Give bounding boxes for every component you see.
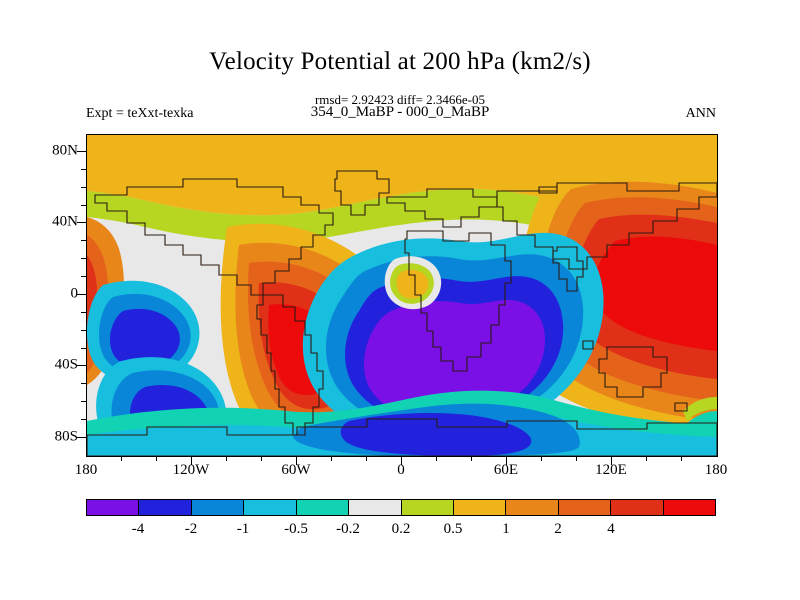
- ytick-minor: [81, 276, 86, 277]
- colorbar-band-10: [611, 500, 663, 515]
- page-title: Velocity Potential at 200 hPa (km2/s): [0, 48, 800, 76]
- contour-field: [87, 135, 717, 456]
- xtick-minor: [121, 456, 122, 461]
- xtick-minor: [226, 456, 227, 461]
- xtick-minor: [436, 456, 437, 461]
- ytick-minor: [81, 348, 86, 349]
- ytick-minor: [81, 383, 86, 384]
- xtick-minor: [576, 456, 577, 461]
- colorbar-label-7: 1: [502, 521, 510, 538]
- xtick-minor: [681, 456, 682, 461]
- ytick-label-40n: 40N: [32, 214, 78, 231]
- colorbar-label-6: 0.5: [444, 521, 463, 538]
- colorbar-band-4: [297, 500, 349, 515]
- xtick-label-180e: 180: [705, 462, 728, 479]
- season-label: ANN: [686, 106, 716, 122]
- xtick-minor: [156, 456, 157, 461]
- colorbar-band-2: [192, 500, 244, 515]
- colorbar-band-5: [349, 500, 401, 515]
- ytick-minor: [81, 258, 86, 259]
- colorbar-label-5: 0.2: [392, 521, 411, 538]
- ytick-major: [77, 294, 86, 295]
- ytick-minor: [81, 419, 86, 420]
- ytick-major: [77, 151, 86, 152]
- ytick-label-0: 0: [32, 286, 78, 303]
- colorbar: [86, 499, 716, 516]
- colorbar-band-0: [87, 500, 139, 515]
- map-plot-area: [86, 134, 718, 457]
- colorbar-band-9: [559, 500, 611, 515]
- colorbar-label-2: -1: [237, 521, 250, 538]
- xtick-major: [296, 456, 297, 465]
- ytick-label-80n: 80N: [32, 143, 78, 160]
- colorbar-label-0: -4: [132, 521, 145, 538]
- ytick-minor: [81, 187, 86, 188]
- colorbar-band-6: [402, 500, 454, 515]
- xtick-minor: [261, 456, 262, 461]
- xtick-minor: [646, 456, 647, 461]
- xtick-minor: [471, 456, 472, 461]
- ytick-minor: [81, 312, 86, 313]
- colorbar-band-8: [506, 500, 558, 515]
- ytick-minor: [81, 401, 86, 402]
- xtick-minor: [331, 456, 332, 461]
- ytick-minor: [81, 240, 86, 241]
- colorbar-label-1: -2: [185, 521, 198, 538]
- figure-canvas: Velocity Potential at 200 hPa (km2/s) rm…: [0, 0, 800, 600]
- colorbar-label-8: 2: [554, 521, 562, 538]
- ytick-major: [77, 365, 86, 366]
- ytick-minor: [81, 205, 86, 206]
- xtick-minor: [366, 456, 367, 461]
- ytick-major: [77, 437, 86, 438]
- xtick-label-180w: 180: [75, 462, 98, 479]
- xtick-major: [611, 456, 612, 465]
- xtick-major: [191, 456, 192, 465]
- ytick-minor: [81, 169, 86, 170]
- xtick-major: [401, 456, 402, 465]
- ytick-minor: [81, 330, 86, 331]
- colorbar-band-1: [139, 500, 191, 515]
- colorbar-band-11: [664, 500, 715, 515]
- experiment-label: Expt = teXxt-texka: [86, 106, 193, 122]
- xtick-minor: [541, 456, 542, 461]
- colorbar-band-3: [244, 500, 296, 515]
- colorbar-label-4: -0.2: [336, 521, 360, 538]
- colorbar-label-9: 4: [607, 521, 615, 538]
- ytick-major: [77, 222, 86, 223]
- ytick-label-80s: 80S: [32, 429, 78, 446]
- colorbar-label-3: -0.5: [284, 521, 308, 538]
- xtick-major: [506, 456, 507, 465]
- colorbar-band-7: [454, 500, 506, 515]
- ytick-label-40s: 40S: [32, 357, 78, 374]
